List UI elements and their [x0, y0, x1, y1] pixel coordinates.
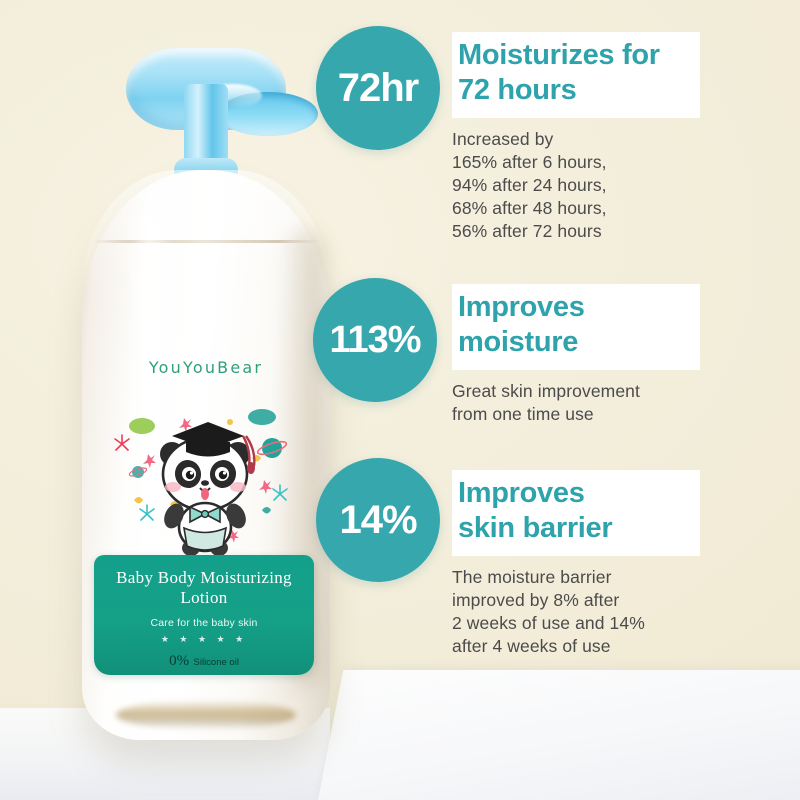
claim-heading-band: Moisturizes for 72 hours [452, 32, 700, 118]
brand-name: YouYouBear [82, 358, 330, 377]
claim-description: The moisture barrier improved by 8% afte… [452, 566, 714, 658]
claim-description: Great skin improvement from one time use [452, 380, 714, 426]
claim-heading-band: Improves skin barrier [452, 470, 700, 556]
bottle-body: YouYouBear [82, 170, 330, 740]
product-label: Baby Body Moisturizing Lotion Care for t… [94, 555, 314, 675]
claim-badge-72hr: 72hr [316, 26, 440, 150]
bottle-bottom-shadow [116, 700, 296, 730]
silicone-percent: 0% [169, 653, 189, 669]
claim-badge-value: 72hr [338, 68, 419, 108]
claim-badge-value: 14% [339, 500, 416, 540]
label-silicone-claim: 0% Silicone oil [94, 645, 314, 670]
label-subtitle: Care for the baby skin [94, 608, 314, 629]
claim-block-moisture: Improves moisture Great skin improvement… [452, 284, 714, 426]
claim-badge-value: 113% [329, 321, 420, 359]
claim-heading: Improves moisture [458, 290, 690, 360]
panda-mascot-illustration [112, 392, 302, 562]
claim-badge-14: 14% [316, 458, 440, 582]
claim-heading: Moisturizes for 72 hours [458, 38, 690, 108]
pedestal-block [318, 670, 800, 800]
claim-badge-113: 113% [313, 278, 437, 402]
claim-heading-band: Improves moisture [452, 284, 700, 370]
product-bottle: YouYouBear [64, 18, 364, 758]
label-star-rating: ★ ★ ★ ★ ★ [94, 629, 314, 645]
claim-block-skin-barrier: Improves skin barrier The moisture barri… [452, 470, 714, 658]
label-title: Baby Body Moisturizing Lotion [94, 555, 314, 608]
silicone-label: Silicone oil [194, 657, 239, 668]
claim-block-moisturizes: Moisturizes for 72 hours Increased by 16… [452, 32, 714, 243]
claim-description: Increased by 165% after 6 hours, 94% aft… [452, 128, 714, 243]
claim-heading: Improves skin barrier [458, 476, 690, 546]
